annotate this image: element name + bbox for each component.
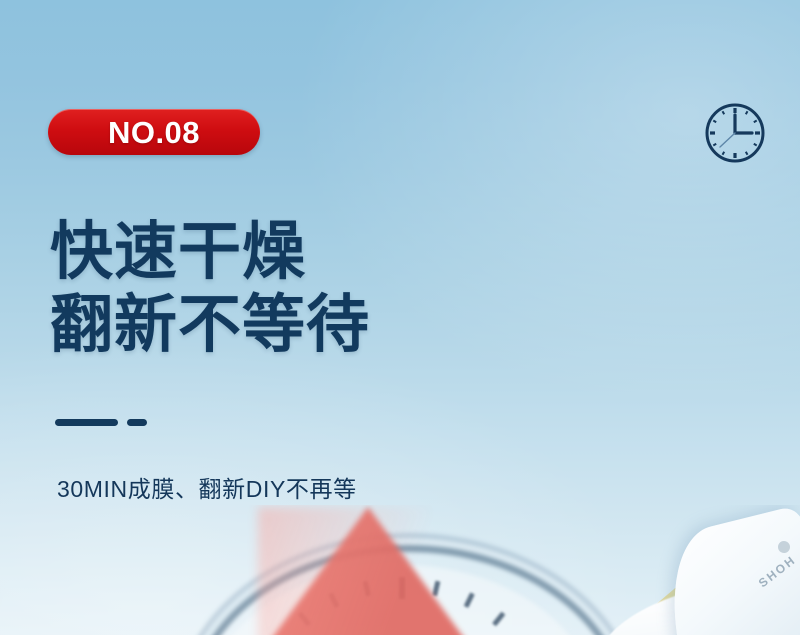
subtitle: 30MIN成膜、翻新DIY不再等 [57,470,357,504]
clock-icon [700,98,770,168]
product-cap-icon [777,540,792,555]
headline: 快速干燥 翻新不等待 [50,216,370,362]
divider-bar-long [55,419,118,426]
large-clock-tick [432,581,440,597]
large-clock-tick [492,612,505,627]
red-cone-highlight [258,507,478,635]
large-clock-tick [464,592,475,608]
product-brand-label: SHOH [755,552,798,590]
large-clock-tick [363,581,371,597]
headline-line-2: 翻新不等待 [50,289,370,362]
product-body [653,505,800,635]
large-clock-face [204,565,598,635]
large-clock-tick [399,577,405,599]
number-badge: NO.08 [48,109,260,155]
large-clock-tick [298,612,311,627]
number-badge-label: NO.08 [108,117,200,148]
divider-bar-short [127,419,147,426]
divider [55,419,147,426]
promo-poster: NO.08 快速干燥 翻 [0,0,800,635]
product-sweep [585,575,800,635]
bottom-artwork: SHOH [0,505,800,635]
headline-line-1: 快速干燥 [50,216,370,289]
large-clock-bezel [186,545,630,635]
large-clock-tick [328,592,339,608]
red-cone-shape [258,507,478,635]
rainbow-beam [620,540,800,635]
